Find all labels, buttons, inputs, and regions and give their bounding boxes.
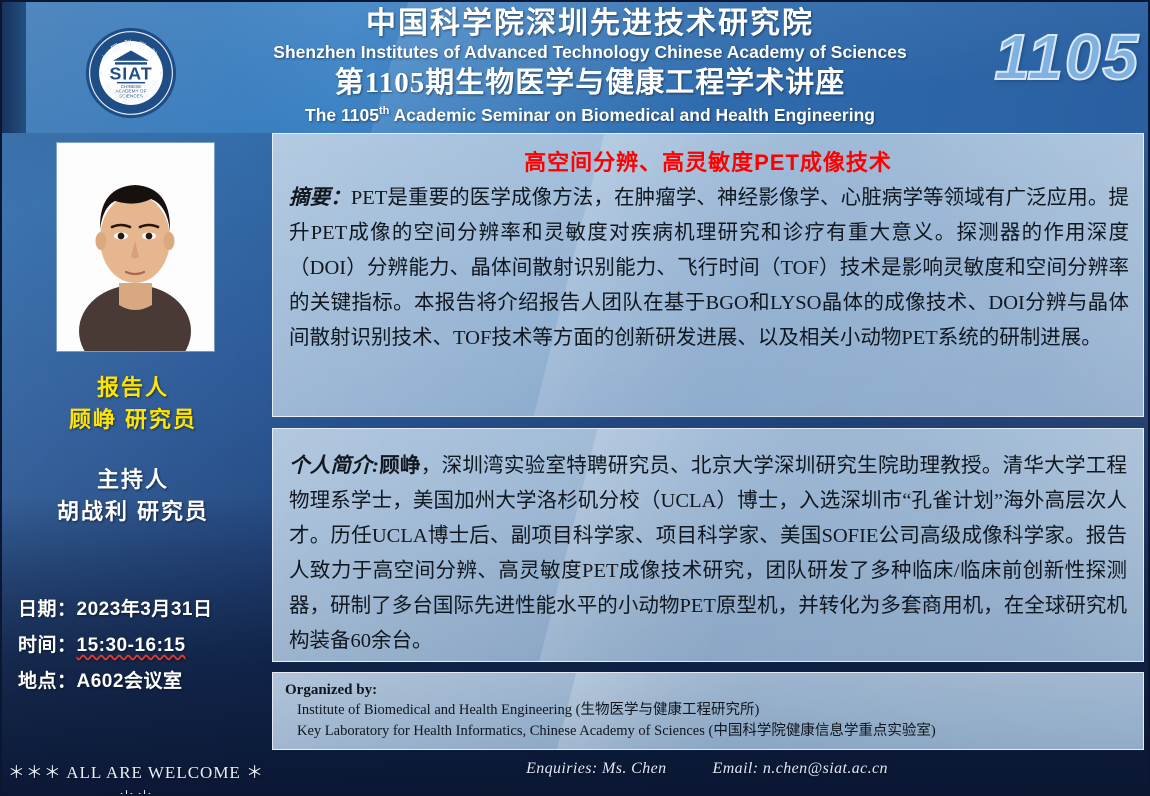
seminar-series-en-pre: The 1105 xyxy=(305,105,379,125)
date-row: 日期：2023年3月31日 xyxy=(18,592,266,628)
abstract-body: PET是重要的医学成像方法，在肿瘤学、神经影像学、心脏病学等领域有广泛应用。提升… xyxy=(289,187,1129,349)
host-info: 主持人 胡战利 研究员 xyxy=(0,464,266,528)
event-details: 日期：2023年3月31日 时间：15:30-16:15 地点：A602会议室 xyxy=(18,592,266,700)
abstract-panel-content: 高空间分辨、高灵敏度PET成像技术 摘要：PET是重要的医学成像方法，在肿瘤学、… xyxy=(273,145,1143,356)
seminar-series-en: The 1105th Academic Seminar on Biomedica… xyxy=(190,101,990,126)
organizer-panel-content: Organized by: Institute of Biomedical an… xyxy=(273,673,1143,742)
date-label: 日期： xyxy=(18,599,77,620)
host-label: 主持人 xyxy=(0,464,266,496)
time-value: 15:30-16:15 xyxy=(77,635,186,656)
biography-text: 个人简介:顾峥，深圳湾实验室特聘研究员、北京大学深圳研究生院助理教授。清华大学工… xyxy=(273,429,1143,659)
abstract-panel: 高空间分辨、高灵敏度PET成像技术 摘要：PET是重要的医学成像方法，在肿瘤学、… xyxy=(272,133,1144,417)
speaker-info: 报告人 顾峥 研究员 xyxy=(0,372,266,436)
seminar-series-cn: 第1105期生物医学与健康工程学术讲座 xyxy=(190,65,990,101)
siat-logo-icon: SIAT CHINESE ACADEMY OF SCIENCES 中国科学院 深… xyxy=(84,26,178,120)
speaker-photo xyxy=(57,143,214,351)
enquiries-text: Enquiries: Ms. Chen xyxy=(526,760,666,777)
header-titles: 中国科学院深圳先进技术研究院 Shenzhen Institutes of Ad… xyxy=(190,7,990,126)
biography-label: 个人简介: xyxy=(289,455,379,477)
time-label: 时间： xyxy=(18,635,77,656)
seminar-poster: 中国科学院深圳先进技术研究院 Shenzhen Institutes of Ad… xyxy=(0,0,1150,796)
talk-title: 高空间分辨、高灵敏度PET成像技术 xyxy=(273,145,1143,177)
time-row: 时间：15:30-16:15 xyxy=(18,628,266,664)
venue-value: A602会议室 xyxy=(77,671,183,692)
speaker-label: 报告人 xyxy=(0,372,266,404)
email-text[interactable]: Email: n.chen@siat.ac.cn xyxy=(713,760,888,777)
organizer-line-2: Key Laboratory for Health Informatics, C… xyxy=(273,721,1143,742)
organizer-panel: Organized by: Institute of Biomedical an… xyxy=(272,672,1144,750)
welcome-note: ＊＊＊ ALL ARE WELCOME ＊＊＊ xyxy=(0,758,272,796)
issue-number-watermark: 1105 xyxy=(994,20,1140,94)
contact-line: Enquiries: Ms. ChenEmail: n.chen@siat.ac… xyxy=(272,760,1142,778)
venue-row: 地点：A602会议室 xyxy=(18,664,266,700)
biography-panel: 个人简介:顾峥，深圳湾实验室特聘研究员、北京大学深圳研究生院助理教授。清华大学工… xyxy=(272,428,1144,662)
institute-name-cn: 中国科学院深圳先进技术研究院 xyxy=(190,7,990,41)
host-name: 胡战利 研究员 xyxy=(0,496,266,528)
venue-label: 地点： xyxy=(18,671,77,692)
seminar-series-en-post: Academic Seminar on Biomedical and Healt… xyxy=(389,105,875,125)
speaker-portrait-image xyxy=(57,143,214,351)
date-value: 2023年3月31日 xyxy=(77,599,213,620)
abstract-text: 摘要：PET是重要的医学成像方法，在肿瘤学、神经影像学、心脏病学等领域有广泛应用… xyxy=(273,181,1143,356)
organized-by-label: Organized by: xyxy=(273,673,1143,700)
organizer-line-1: Institute of Biomedical and Health Engin… xyxy=(273,700,1143,721)
institute-name-en: Shenzhen Institutes of Advanced Technolo… xyxy=(190,41,990,63)
abstract-label: 摘要： xyxy=(289,187,351,209)
ordinal-suffix: th xyxy=(379,105,389,117)
biography-name: 顾峥 xyxy=(379,455,421,477)
header-left-edge xyxy=(0,0,26,133)
speaker-name: 顾峥 研究员 xyxy=(0,404,266,436)
biography-body: ，深圳湾实验室特聘研究员、北京大学深圳研究生院助理教授。清华大学工程物理系学士，… xyxy=(289,455,1127,652)
biography-panel-content: 个人简介:顾峥，深圳湾实验室特聘研究员、北京大学深圳研究生院助理教授。清华大学工… xyxy=(273,429,1143,659)
svg-text:SIAT: SIAT xyxy=(109,64,152,84)
